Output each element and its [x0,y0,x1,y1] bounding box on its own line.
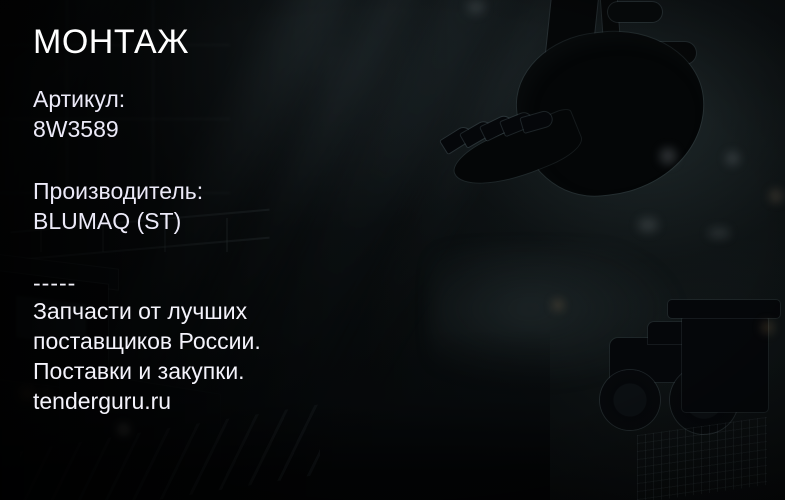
card-content: МОНТАЖ Артикул: 8W3589 Производитель: BL… [33,0,463,500]
product-banner-card: МОНТАЖ Артикул: 8W3589 Производитель: BL… [0,0,785,500]
field-article-label: Артикул: [33,84,125,114]
field-manufacturer: Производитель: BLUMAQ (ST) [33,176,203,236]
promo-divider: ----- [33,270,261,296]
promo-block: ----- Запчасти от лучших поставщиков Рос… [33,270,261,416]
field-article: Артикул: 8W3589 [33,84,125,144]
promo-line: поставщиков России. [33,326,261,356]
field-manufacturer-label: Производитель: [33,176,203,206]
page-title: МОНТАЖ [33,22,189,62]
promo-line: Запчасти от лучших [33,296,261,326]
field-manufacturer-value: BLUMAQ (ST) [33,206,203,236]
promo-site-url[interactable]: tenderguru.ru [33,386,261,416]
promo-line: Поставки и закупки. [33,356,261,386]
field-article-value: 8W3589 [33,114,125,144]
